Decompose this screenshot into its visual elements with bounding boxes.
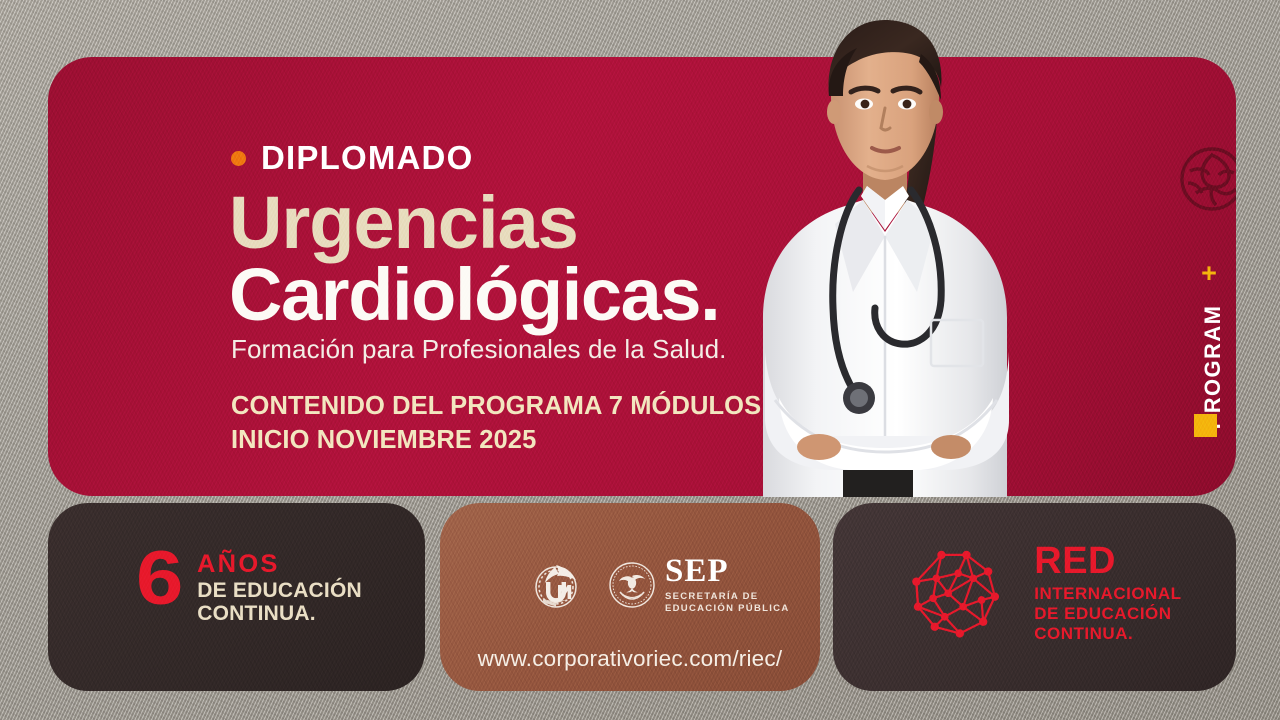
red-network-sphere-icon — [908, 535, 1008, 655]
program-info-line-2: INICIO NOVIEMBRE 2025 — [231, 423, 768, 457]
anos-card: 6 AÑOS DE EDUCACIÓN CONTINUA. — [48, 503, 425, 691]
sep-subtitle-line-1: SECRETARÍA DE — [665, 591, 790, 603]
sep-subtitle: SECRETARÍA DE EDUCACIÓN PÚBLICA — [665, 591, 790, 615]
anos-line-3: CONTINUA. — [197, 603, 362, 626]
program-vertical-brand: + PROGRAM — [1191, 262, 1233, 442]
red-line-3: DE EDUCACIÓN CONTINUA. — [1034, 604, 1236, 644]
hero-card: DIPLOMADO Urgencias Cardiológicas. Forma… — [48, 57, 1236, 496]
sep-text-group: SEP SECRETARÍA DE EDUCACIÓN PÚBLICA — [665, 555, 790, 615]
anos-logo-group: 6 AÑOS DE EDUCACIÓN CONTINUA. — [136, 548, 362, 625]
red-title: RED — [1034, 542, 1236, 580]
title-line-1: Urgencias — [229, 186, 578, 260]
sep-title: SEP — [665, 555, 790, 588]
eyebrow-label: DIPLOMADO — [261, 139, 473, 177]
sep-card: SEP SECRETARÍA DE EDUCACIÓN PÚBLICA www.… — [440, 503, 820, 691]
accent-dot-icon — [231, 151, 246, 166]
subtitle-text: Formación para Profesionales de la Salud… — [231, 334, 726, 365]
title-line-2: Cardiológicas. — [229, 258, 719, 332]
program-info-block: CONTENIDO DEL PROGRAMA 7 MÓDULOS. INICIO… — [231, 389, 768, 457]
anos-label: AÑOS — [197, 552, 365, 577]
mexican-national-seal-icon — [608, 561, 656, 609]
eyebrow-row: DIPLOMADO — [231, 139, 473, 177]
sep-logo-group: SEP SECRETARÍA DE EDUCACIÓN PÚBLICA — [526, 555, 790, 615]
anos-line-2: DE EDUCACIÓN — [197, 580, 362, 603]
anos-text-group: AÑOS DE EDUCACIÓN CONTINUA. — [197, 548, 362, 625]
red-card: RED INTERNACIONAL DE EDUCACIÓN CONTINUA. — [833, 503, 1236, 691]
red-text-group: RED INTERNACIONAL DE EDUCACIÓN CONTINUA. — [1034, 542, 1236, 648]
globe-sphere-icon — [1176, 143, 1236, 215]
hero-content: DIPLOMADO Urgencias Cardiológicas. Forma… — [48, 57, 1236, 496]
um-university-seal-icon — [526, 555, 586, 615]
sep-subtitle-line-2: EDUCACIÓN PÚBLICA — [665, 603, 790, 615]
program-info-line-1: CONTENIDO DEL PROGRAMA 7 MÓDULOS. — [231, 389, 768, 423]
red-line-2: INTERNACIONAL — [1034, 584, 1236, 604]
banner-canvas: DIPLOMADO Urgencias Cardiológicas. Forma… — [0, 0, 1280, 720]
red-logo-group: RED INTERNACIONAL DE EDUCACIÓN CONTINUA. — [908, 535, 1236, 655]
program-square-marker — [1194, 414, 1217, 437]
anos-number: 6 — [136, 548, 180, 610]
sep-brand-group: SEP SECRETARÍA DE EDUCACIÓN PÚBLICA — [608, 555, 790, 615]
website-url[interactable]: www.corporativoriec.com/riec/ — [440, 646, 820, 672]
